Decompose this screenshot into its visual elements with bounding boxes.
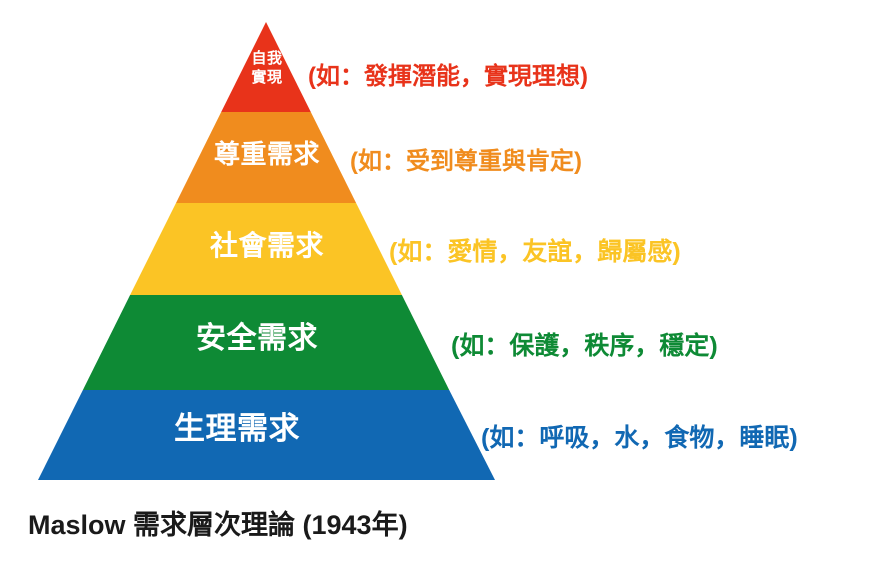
tier-annotation-esteem: (如：受到尊重與肯定): [350, 141, 582, 176]
tier-annotation-self-actualization: (如：發揮潛能，實現理想): [308, 56, 588, 91]
tier-annotation-safety: (如：保護，秩序，穩定): [451, 326, 718, 362]
pyramid-tier-esteem[interactable]: [176, 112, 356, 203]
pyramid-tier-self-actualization[interactable]: [221, 22, 311, 112]
pyramid-tier-social[interactable]: [130, 203, 402, 295]
diagram-canvas: 自我 實現 尊重需求 社會需求 安全需求 生理需求 (如：發揮潛能，實現理想) …: [0, 0, 870, 572]
pyramid-tier-physiological[interactable]: [38, 390, 495, 480]
tier-annotation-physiological: (如：呼吸，水，食物，睡眠): [481, 418, 798, 454]
pyramid-tier-safety[interactable]: [83, 295, 449, 390]
diagram-caption: Maslow 需求層次理論 (1943年): [28, 503, 408, 542]
tier-annotation-social: (如：愛情，友誼，歸屬感): [389, 232, 681, 268]
